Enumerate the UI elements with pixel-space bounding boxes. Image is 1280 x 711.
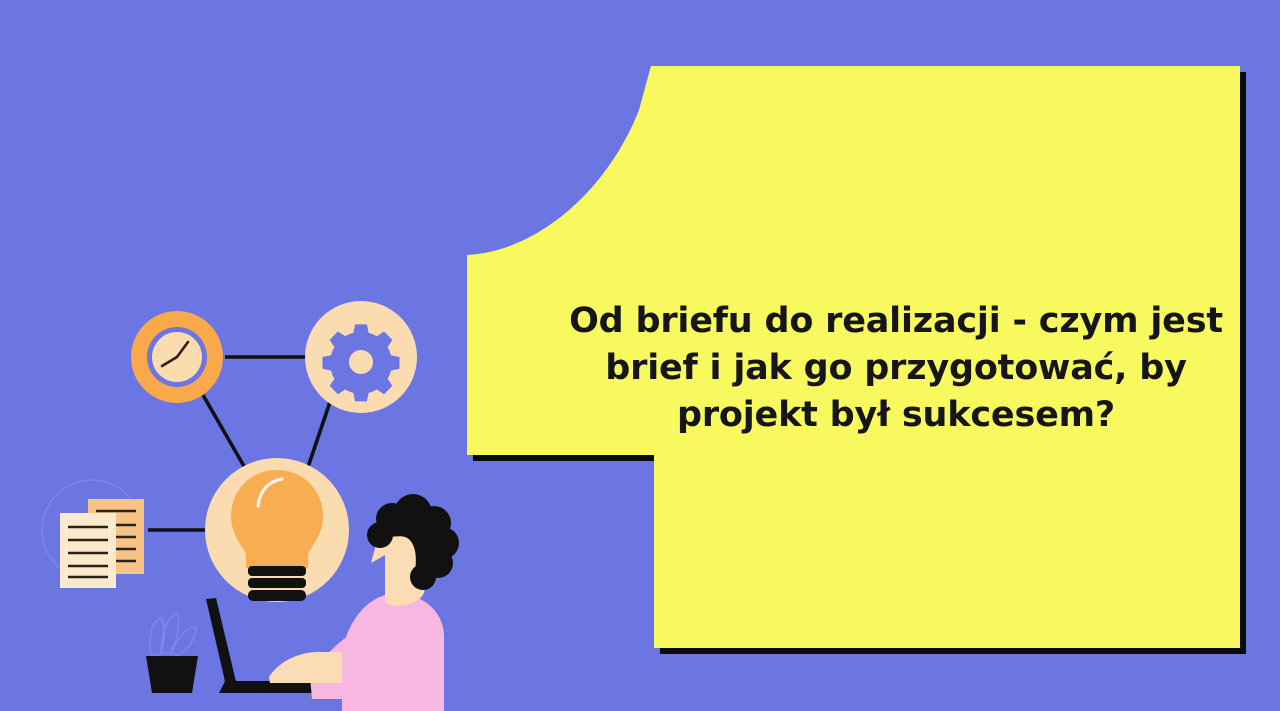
brainstorming-illustration [20,285,470,711]
lightbulb-base [248,566,306,601]
card-surface [467,66,1240,648]
gear-icon [305,301,417,413]
connector-clock-bulb [203,395,245,468]
person-hair [367,494,459,590]
plant-pot [146,656,198,693]
clock-icon [131,311,223,403]
person-torso [342,594,444,711]
person-hand [269,652,350,683]
potted-plant-icon [146,613,198,693]
documents-icon [60,499,144,588]
connector-gear-bulb [308,402,330,467]
cover-canvas: Od briefu do realizacji - czym jest brie… [0,0,1280,711]
lightbulb-icon [205,458,349,602]
